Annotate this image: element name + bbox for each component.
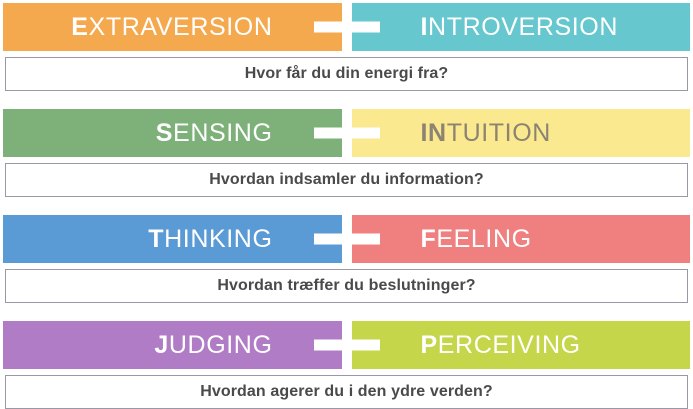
pole-right-label: FEELING bbox=[421, 227, 532, 252]
pole-right-rest: TUITION bbox=[447, 119, 551, 147]
pole-left-lead-letter: T bbox=[148, 225, 164, 253]
pole-right-label: INTROVERSION bbox=[421, 15, 619, 40]
pole-left-lead-letter: J bbox=[154, 331, 169, 359]
mbti-dichotomy-diagram: EXTRAVERSIONINTROVERSIONHvor får du din … bbox=[0, 0, 693, 408]
question-box: Hvordan træffer du beslutninger? bbox=[5, 269, 688, 303]
dichotomy-row: THINKINGFEELINGHvordan træffer du beslut… bbox=[3, 215, 690, 303]
pole-right-lead-letter: IN bbox=[421, 119, 447, 147]
question-box: Hvor får du din energi fra? bbox=[5, 57, 688, 91]
dichotomy-row: SENSINGINTUITIONHvordan indsamler du inf… bbox=[3, 109, 690, 197]
pole-left-rest: UDGING bbox=[169, 331, 273, 359]
dichotomy-bar: THINKINGFEELING bbox=[3, 215, 690, 263]
question-box: Hvordan indsamler du information? bbox=[5, 163, 688, 197]
pole-right-rest: NTROVERSION bbox=[428, 13, 618, 41]
pole-left[interactable]: THINKING bbox=[3, 215, 347, 263]
pole-left-rest: ENSING bbox=[173, 119, 272, 147]
question-text: Hvordan agerer du i den ydre verden? bbox=[200, 383, 493, 401]
row-spacer bbox=[3, 303, 690, 321]
pole-left-rest: HINKING bbox=[164, 225, 272, 253]
row-spacer bbox=[3, 197, 690, 215]
pole-right-rest: ERCEIVING bbox=[438, 331, 581, 359]
pole-left-label: EXTRAVERSION bbox=[71, 15, 272, 40]
pole-left-label: SENSING bbox=[156, 121, 273, 146]
pole-left[interactable]: EXTRAVERSION bbox=[3, 3, 347, 51]
pole-left-label: THINKING bbox=[148, 227, 272, 252]
dichotomy-bar: JUDGINGPERCEIVING bbox=[3, 321, 690, 369]
pole-right-label: PERCEIVING bbox=[421, 333, 581, 358]
dichotomy-row: JUDGINGPERCEIVINGHvordan agerer du i den… bbox=[3, 321, 690, 409]
pole-left[interactable]: SENSING bbox=[3, 109, 347, 157]
row-spacer bbox=[3, 91, 690, 109]
pole-right[interactable]: FEELING bbox=[347, 215, 691, 263]
pole-right-label: INTUITION bbox=[421, 121, 551, 146]
pole-left-label: JUDGING bbox=[154, 333, 272, 358]
dichotomy-bar: SENSINGINTUITION bbox=[3, 109, 690, 157]
pole-right[interactable]: PERCEIVING bbox=[347, 321, 691, 369]
dichotomy-bar: EXTRAVERSIONINTROVERSION bbox=[3, 3, 690, 51]
pole-right-rest: EELING bbox=[436, 225, 531, 253]
pole-right[interactable]: INTUITION bbox=[347, 109, 691, 157]
dichotomy-row: EXTRAVERSIONINTROVERSIONHvor får du din … bbox=[3, 3, 690, 91]
question-text: Hvordan træffer du beslutninger? bbox=[217, 277, 475, 295]
pole-left-lead-letter: S bbox=[156, 119, 173, 147]
pole-right-lead-letter: I bbox=[421, 13, 429, 41]
pole-right-lead-letter: F bbox=[421, 225, 437, 253]
pole-right[interactable]: INTROVERSION bbox=[347, 3, 691, 51]
question-text: Hvordan indsamler du information? bbox=[209, 171, 483, 189]
pole-left[interactable]: JUDGING bbox=[3, 321, 347, 369]
pole-left-lead-letter: E bbox=[71, 13, 88, 41]
question-text: Hvor får du din energi fra? bbox=[245, 65, 449, 83]
pole-left-rest: XTRAVERSION bbox=[89, 13, 273, 41]
question-box: Hvordan agerer du i den ydre verden? bbox=[5, 375, 688, 409]
pole-right-lead-letter: P bbox=[421, 331, 438, 359]
